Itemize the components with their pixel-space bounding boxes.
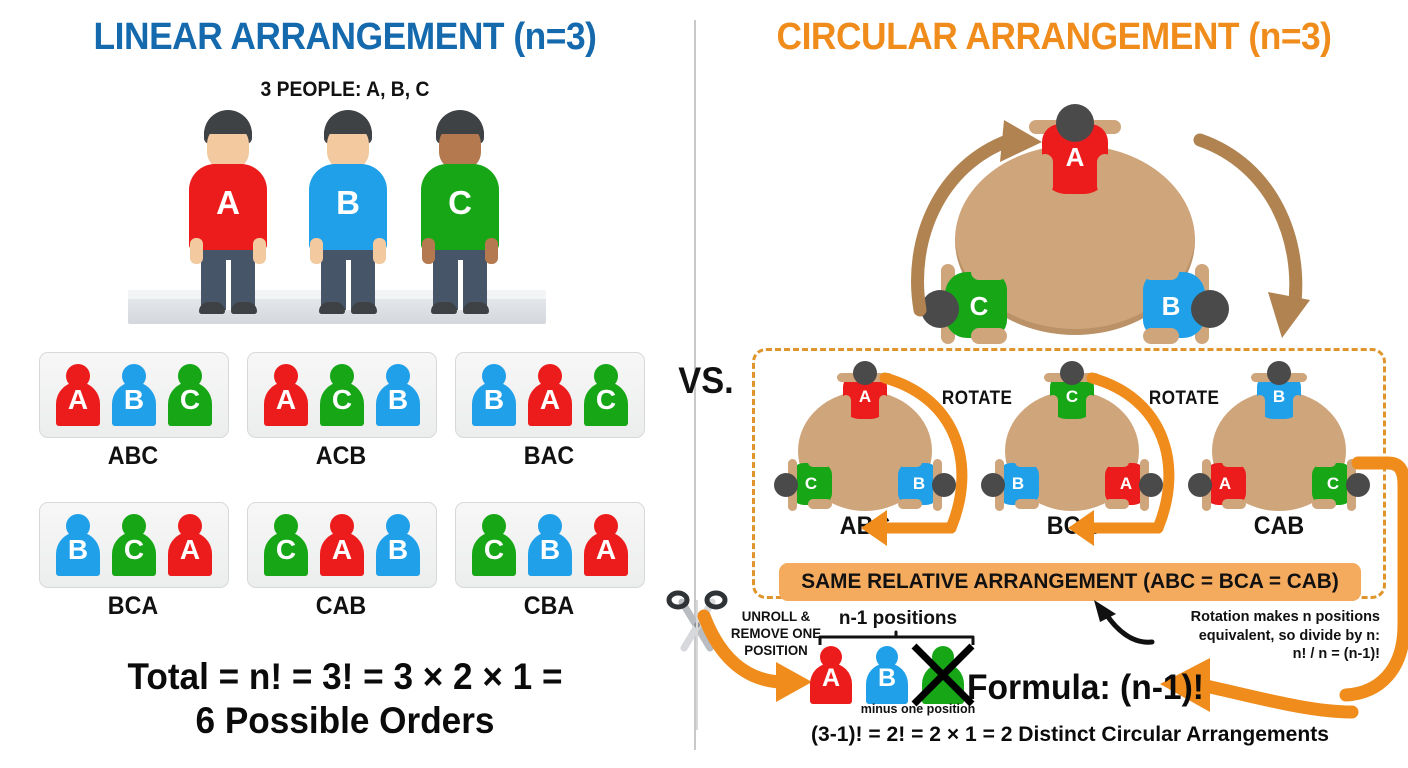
icon-letter: A xyxy=(165,536,215,564)
hand-right xyxy=(485,238,498,264)
hand-left xyxy=(190,238,203,264)
icon-person-c: C xyxy=(581,364,631,426)
icon-person-a: A xyxy=(261,364,311,426)
permutation-label-acb: ACB xyxy=(254,442,429,471)
seat-letter-left: A xyxy=(1210,474,1240,494)
hand-left xyxy=(422,238,435,264)
icon-person-b: B xyxy=(373,364,423,426)
icon-person-c: C xyxy=(109,514,159,576)
hand-right xyxy=(253,238,266,264)
icon-person-b: B xyxy=(373,514,423,576)
seat-letter-left: B xyxy=(1003,474,1033,494)
linear-formula-line2: 6 Possible Orders xyxy=(36,699,654,743)
circular-formula: Formula: (n-1)! xyxy=(967,668,1204,708)
arm-bottom xyxy=(1222,499,1246,509)
permutation-card-acb[interactable]: ACB xyxy=(247,352,437,438)
legs xyxy=(321,244,375,310)
icon-letter: B xyxy=(373,536,423,564)
arm-bottom xyxy=(1312,499,1336,509)
arm-bottom xyxy=(1015,499,1039,509)
icon-person-c: C xyxy=(469,514,519,576)
icon-person-c: C xyxy=(165,364,215,426)
arm-top xyxy=(1015,457,1039,467)
infographic-canvas: LINEAR ARRANGEMENT (n=3) 3 PEOPLE: A, B,… xyxy=(0,0,1408,768)
icon-letter: C xyxy=(165,386,215,414)
permutation-label-bca: BCA xyxy=(46,592,221,621)
rotate-label-2: ROTATE xyxy=(1149,388,1219,410)
standing-person-a: A xyxy=(173,110,283,310)
seat-top: B xyxy=(1249,361,1309,421)
shoe-left xyxy=(199,302,225,314)
icon-letter: C xyxy=(261,536,311,564)
right-panel-title: CIRCULAR ARRANGEMENT (n=3) xyxy=(725,16,1383,59)
circular-equation: (3-1)! = 2! = 2 × 1 = 2 Distinct Circula… xyxy=(766,722,1374,747)
legs xyxy=(201,244,255,310)
head xyxy=(1267,361,1291,385)
icon-person-b: B xyxy=(53,514,103,576)
arm-top xyxy=(1312,457,1336,467)
unrolled-people-row: AB xyxy=(808,646,988,708)
shoe-right xyxy=(231,302,257,314)
vs-label: VS. xyxy=(669,360,743,402)
person-letter: A xyxy=(808,666,854,691)
rotation-table-cab: BAC xyxy=(1204,375,1354,515)
icon-person-a: A xyxy=(317,514,367,576)
icon-letter: B xyxy=(373,386,423,414)
icon-letter: B xyxy=(53,536,103,564)
hand-left xyxy=(310,238,323,264)
rotation-label-cab: CAB xyxy=(1209,512,1349,541)
rotation-note-line1: Rotation makes n positions xyxy=(1128,608,1380,627)
icon-person-b: B xyxy=(525,514,575,576)
icon-person-a: A xyxy=(525,364,575,426)
seat-letter-top: B xyxy=(1249,387,1309,407)
hand-right xyxy=(373,238,386,264)
fringe xyxy=(204,118,252,134)
person-glyph: B xyxy=(864,646,910,704)
shoe-left xyxy=(431,302,457,314)
icon-person-a: A xyxy=(53,364,103,426)
icon-person-c: C xyxy=(261,514,311,576)
person-label-b: B xyxy=(309,184,387,222)
person-label-c: C xyxy=(421,184,499,222)
icon-letter: A xyxy=(525,386,575,414)
fringe xyxy=(436,118,484,134)
person-label-a: A xyxy=(189,184,267,222)
permutation-card-bac[interactable]: BAC xyxy=(455,352,645,438)
seat-left: C xyxy=(774,455,834,515)
permutation-label-cba: CBA xyxy=(462,592,637,621)
icon-letter: B xyxy=(525,536,575,564)
same-arrangement-banner: SAME RELATIVE ARRANGEMENT (ABC = BCA = C… xyxy=(779,563,1361,601)
permutation-card-cab[interactable]: CAB xyxy=(247,502,437,588)
fringe xyxy=(324,118,372,134)
icon-letter: C xyxy=(469,536,519,564)
standing-person-b: B xyxy=(293,110,403,310)
icon-person-b: B xyxy=(469,364,519,426)
icon-person-b: B xyxy=(109,364,159,426)
shoe-right xyxy=(463,302,489,314)
n-minus-1-label: n-1 positions xyxy=(808,608,988,630)
seat-letter-left: C xyxy=(796,474,826,494)
icon-letter: A xyxy=(261,386,311,414)
icon-letter: A xyxy=(53,386,103,414)
rotate-label-1: ROTATE xyxy=(942,388,1012,410)
rotation-note-line2: equivalent, so divide by n: xyxy=(1128,627,1380,646)
icon-letter: C xyxy=(317,386,367,414)
seat-letter-right: C xyxy=(1318,474,1348,494)
permutation-label-abc: ABC xyxy=(46,442,221,471)
left-panel-subtitle: 3 PEOPLE: A, B, C xyxy=(28,78,663,102)
icon-letter: C xyxy=(109,536,159,564)
big-rotate-arrows xyxy=(900,120,1320,340)
icon-letter: A xyxy=(581,536,631,564)
legs xyxy=(433,244,487,310)
icon-person-c: C xyxy=(317,364,367,426)
unrolled-person-c xyxy=(920,646,966,704)
icon-letter: B xyxy=(469,386,519,414)
arm-bottom xyxy=(808,499,832,509)
standing-person-c: C xyxy=(405,110,515,310)
permutation-label-cab: CAB xyxy=(254,592,429,621)
left-panel-title: LINEAR ARRANGEMENT (n=3) xyxy=(24,16,666,59)
unrolled-person-a: A xyxy=(808,646,854,704)
icon-letter: A xyxy=(317,536,367,564)
permutation-card-abc[interactable]: ABC xyxy=(39,352,229,438)
person-letter: B xyxy=(864,666,910,691)
unrolled-person-b: B xyxy=(864,646,910,704)
permutation-label-bac: BAC xyxy=(462,442,637,471)
icon-letter: C xyxy=(581,386,631,414)
head xyxy=(774,473,798,497)
permutation-card-bca[interactable]: BCA xyxy=(39,502,229,588)
shoe-right xyxy=(351,302,377,314)
permutation-card-cba[interactable]: CBA xyxy=(455,502,645,588)
arm-top xyxy=(808,457,832,467)
linear-formula-line1: Total = n! = 3! = 3 × 2 × 1 = xyxy=(36,655,654,699)
shoe-left xyxy=(319,302,345,314)
person-glyph: A xyxy=(808,646,854,704)
icon-letter: B xyxy=(109,386,159,414)
linear-formula: Total = n! = 3! = 3 × 2 × 1 = 6 Possible… xyxy=(36,655,654,742)
icon-person-a: A xyxy=(581,514,631,576)
icon-person-a: A xyxy=(165,514,215,576)
arm-top xyxy=(1222,457,1246,467)
